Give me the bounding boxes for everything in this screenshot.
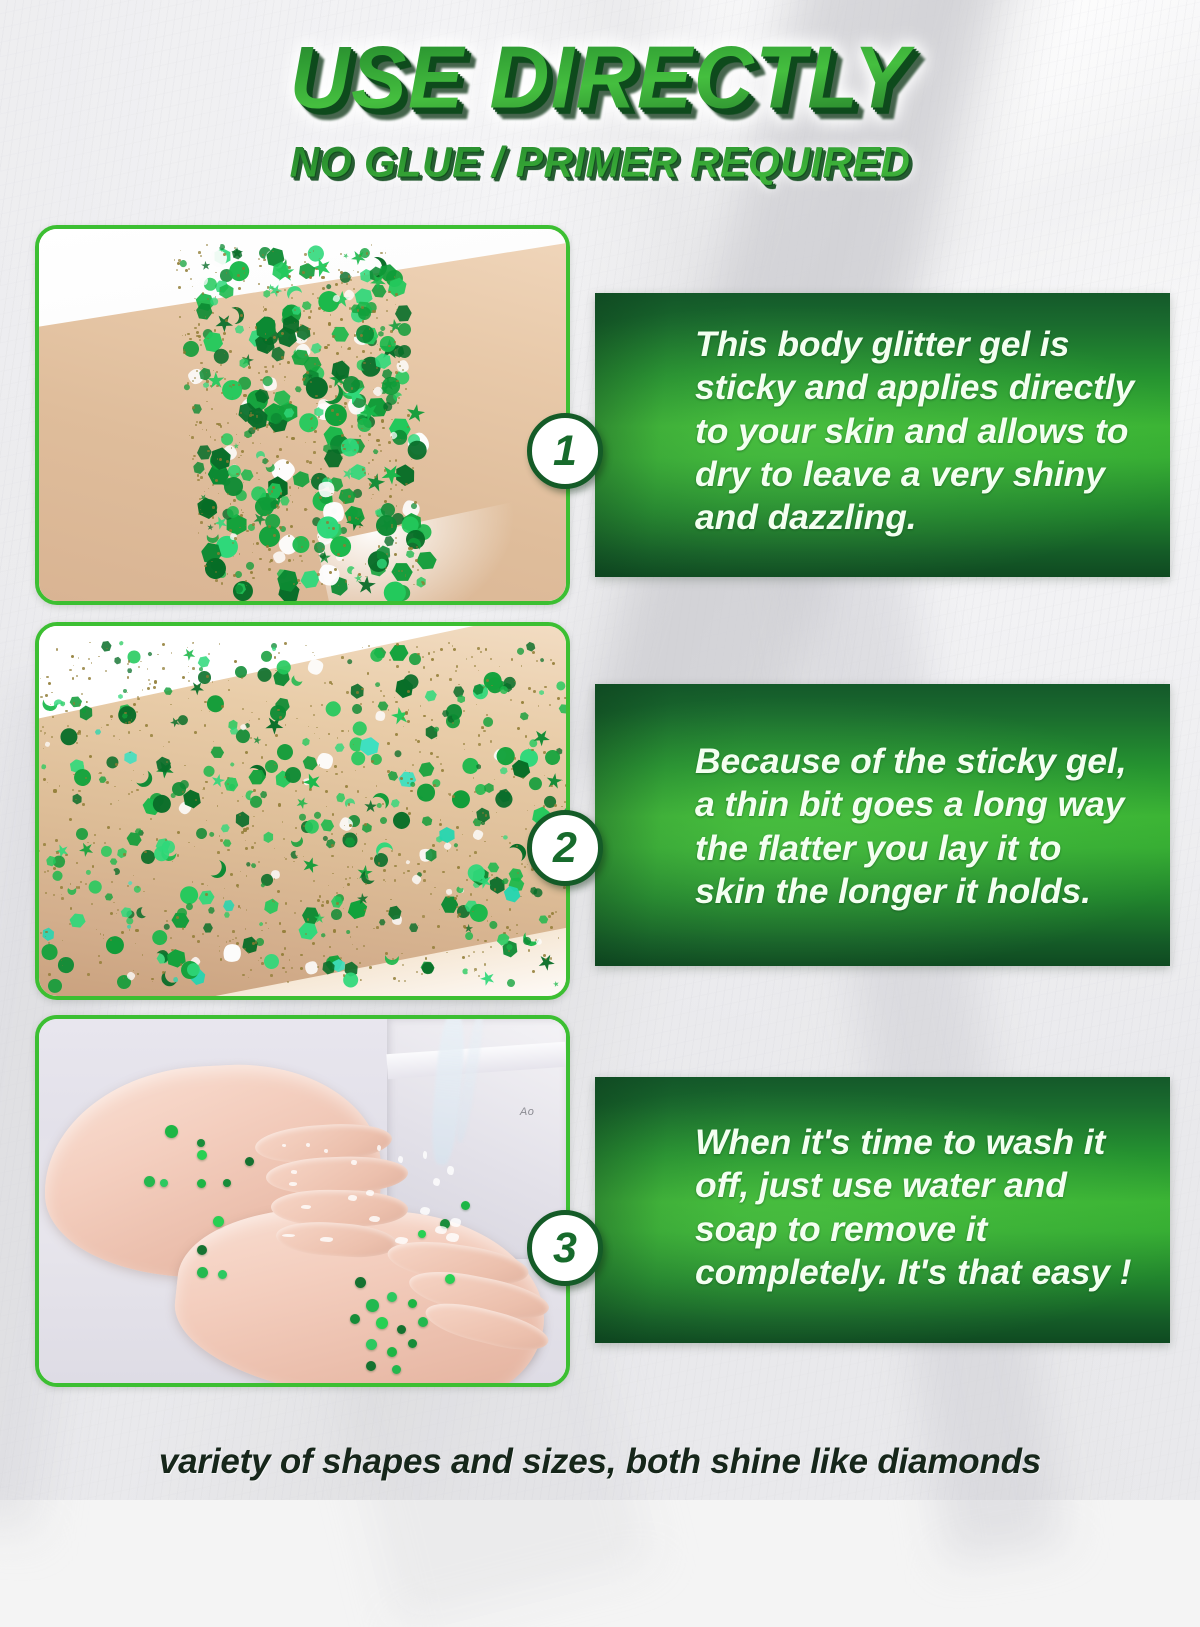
step-2-number-badge: 2 [527, 810, 603, 886]
page-subtitle: NO GLUE / PRIMER REQUIRED [0, 138, 1200, 187]
step-3-photo-frame: Ao [35, 1015, 570, 1387]
header-block: USE DIRECTLY NO GLUE / PRIMER REQUIRED [0, 36, 1200, 186]
page-title: USE DIRECTLY [0, 34, 1200, 122]
step-1-text-panel: This body glitter gel is sticky and appl… [595, 293, 1170, 577]
step-1-description: This body glitter gel is sticky and appl… [595, 293, 1170, 539]
step-2-description: Because of the sticky gel, a thin bit go… [595, 684, 1170, 913]
step-1-number-badge: 1 [527, 413, 603, 489]
step-3-number-badge: 3 [527, 1210, 603, 1286]
glitter-on-arm-photo [39, 229, 566, 601]
step-2-photo-frame [35, 622, 570, 1000]
step-3-description: When it's time to wash it off, just use … [595, 1077, 1170, 1294]
footer-caption: variety of shapes and sizes, both shine … [0, 1442, 1200, 1482]
step-1-photo-frame [35, 225, 570, 605]
step-row-1: This body glitter gel is sticky and appl… [0, 225, 1200, 605]
washing-hands-photo: Ao [39, 1019, 566, 1383]
sink-label-text: Ao [520, 1106, 534, 1118]
step-row-3: Ao When it's time to wash it off, just u… [0, 1015, 1200, 1387]
glitter-spread-on-arm-photo [39, 626, 566, 996]
step-2-text-panel: Because of the sticky gel, a thin bit go… [595, 684, 1170, 966]
step-3-text-panel: When it's time to wash it off, just use … [595, 1077, 1170, 1343]
step-row-2: Because of the sticky gel, a thin bit go… [0, 622, 1200, 1000]
